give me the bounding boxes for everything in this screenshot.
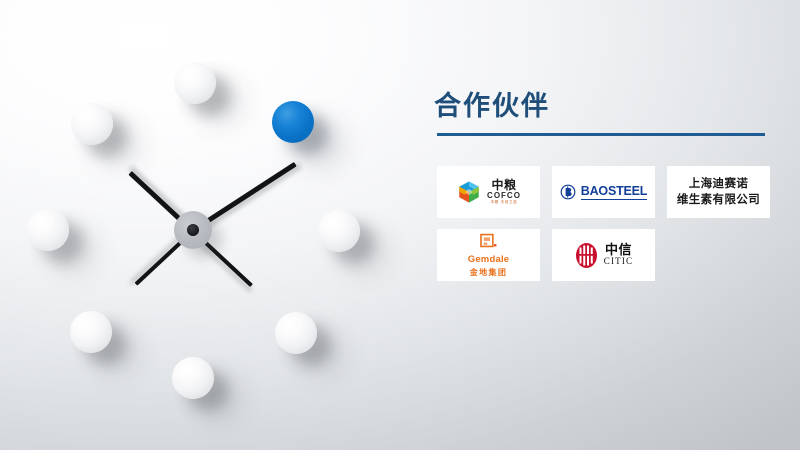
- cofco-cube-icon: [456, 179, 482, 205]
- partner-card-baosteel[interactable]: BAOSTEEL: [552, 166, 655, 218]
- partner-card-disano[interactable]: 上海迪赛诺 维生素有限公司: [667, 166, 770, 218]
- clock-marker-5: [275, 312, 317, 354]
- disano-name-line2: 维生素有限公司: [677, 194, 760, 206]
- title-underline-rule: [437, 133, 765, 136]
- gemdale-cn-label: 金地集团: [470, 267, 508, 278]
- partner-card-cofco[interactable]: 中粮 COFCO 中粮 天然之选: [437, 166, 540, 218]
- partners-panel: 合作伙伴 中粮 COFCO: [420, 88, 780, 318]
- cofco-cn-label: 中粮: [491, 179, 516, 192]
- baosteel-wordmark: BAOSTEEL: [581, 184, 647, 200]
- partner-card-citic[interactable]: 中信 CITIC: [552, 229, 655, 281]
- slide-canvas: 合作伙伴 中粮 COFCO: [0, 0, 800, 450]
- citic-cn-label: 中信: [605, 243, 632, 257]
- clock-marker-7: [70, 311, 112, 353]
- wall-clock-illustration: [0, 0, 400, 450]
- partner-logo-grid: 中粮 COFCO 中粮 天然之选 BAOSTEEL: [437, 166, 770, 281]
- partner-card-gemdale[interactable]: Gemdale 金地集团: [437, 229, 540, 281]
- citic-en-label: CITIC: [604, 257, 634, 267]
- clock-marker-1-accent: [272, 101, 314, 143]
- clock-marker-3: [318, 210, 360, 252]
- citic-oval-icon: [574, 242, 599, 269]
- clock-center-cap: [187, 224, 199, 236]
- clock-marker-6: [172, 357, 214, 399]
- clock-marker-12: [174, 62, 216, 104]
- gemdale-en-label: Gemdale: [468, 254, 510, 265]
- baosteel-circle-b-icon: [560, 184, 576, 200]
- gemdale-frame-icon: [479, 233, 498, 252]
- section-title: 合作伙伴: [434, 88, 550, 124]
- clock-marker-9: [27, 209, 69, 251]
- partner-card-placeholder: [667, 229, 770, 281]
- disano-name-line1: 上海迪赛诺: [689, 178, 749, 190]
- clock-marker-11: [71, 103, 113, 145]
- cofco-tagline: 中粮 天然之选: [491, 201, 518, 205]
